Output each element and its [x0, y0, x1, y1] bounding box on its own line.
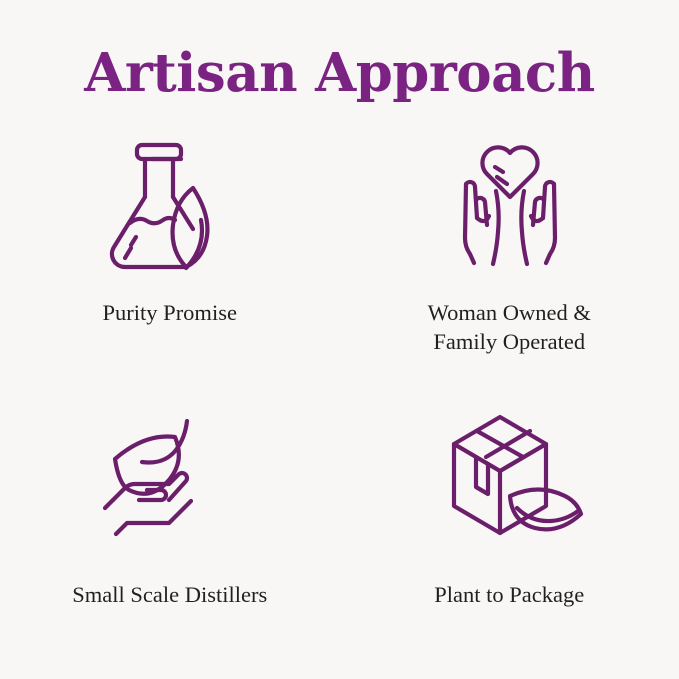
hands-heart-icon	[435, 128, 585, 283]
feature-grid: Purity Promise	[0, 102, 679, 679]
page-title: Artisan Approach	[84, 44, 594, 102]
leaf-hand-icon	[94, 404, 244, 559]
artisan-approach-infographic: Artisan Approach	[0, 0, 679, 679]
feature-item-plant-to-package: Plant to Package	[340, 404, 679, 610]
feature-label: Woman Owned & Family Operated	[428, 299, 591, 357]
feature-item-woman-owned: Woman Owned & Family Operated	[340, 128, 679, 357]
feature-label: Plant to Package	[434, 581, 584, 610]
feature-label: Small Scale Distillers	[72, 581, 267, 610]
feature-item-purity-promise: Purity Promise	[0, 128, 340, 328]
feature-label: Purity Promise	[103, 299, 237, 328]
box-leaf-icon	[436, 404, 586, 559]
flask-leaf-icon	[98, 128, 248, 283]
feature-item-small-scale: Small Scale Distillers	[0, 404, 340, 610]
